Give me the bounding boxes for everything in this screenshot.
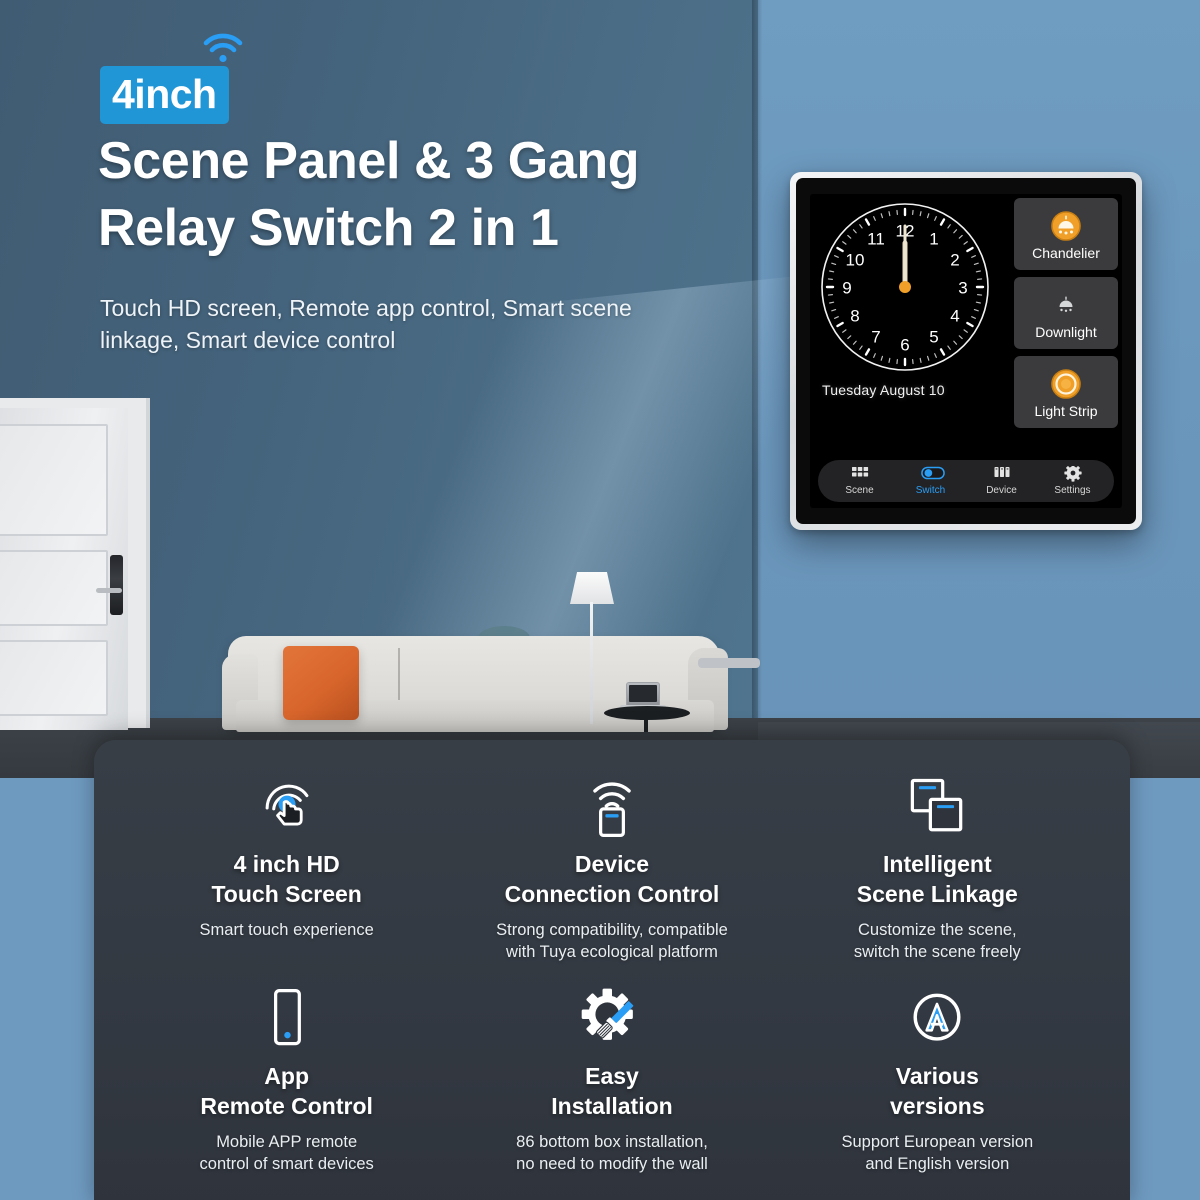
smart-door-lock bbox=[110, 555, 123, 615]
headline-line-1: Scene Panel & 3 Gang bbox=[98, 128, 758, 195]
feature-title: Intelligent Scene Linkage bbox=[857, 850, 1018, 910]
page-title: Scene Panel & 3 Gang Relay Switch 2 in 1 bbox=[98, 128, 758, 261]
feature-title-line-2: Touch Screen bbox=[211, 880, 361, 910]
svg-text:10: 10 bbox=[846, 251, 865, 270]
clock-date-label: Tuesday August 10 bbox=[822, 382, 945, 398]
panel-bezel: 12 1 2 3 4 5 6 7 8 9 10 11 bbox=[796, 178, 1136, 524]
device-tile-list: Chandelier bbox=[1014, 198, 1118, 428]
svg-text:6: 6 bbox=[900, 336, 909, 355]
feature-title: Easy Installation bbox=[551, 1062, 672, 1122]
feature-title-line-1: Easy bbox=[551, 1062, 672, 1092]
product-banner: 4inch Scene Panel & 3 Gang Relay Switch … bbox=[0, 0, 1200, 1200]
door-panel-bottom bbox=[0, 640, 108, 716]
headline-line-2: Relay Switch 2 in 1 bbox=[98, 195, 758, 262]
door bbox=[0, 408, 128, 730]
feature-title: 4 inch HD Touch Screen bbox=[211, 850, 361, 910]
laptop bbox=[626, 682, 660, 707]
feature-description: Strong compatibility, compatible with Tu… bbox=[496, 919, 728, 964]
feature-app-remote-control: App Remote Control Mobile APP remote con… bbox=[124, 978, 449, 1190]
feature-title: Various versions bbox=[890, 1062, 985, 1122]
device-tile-label: Light Strip bbox=[1034, 404, 1097, 418]
nav-label: Settings bbox=[1054, 486, 1090, 496]
feature-description: Smart touch experience bbox=[200, 919, 374, 941]
gear-screwdriver-icon bbox=[576, 978, 648, 1060]
nav-item-settings[interactable]: Settings bbox=[1044, 466, 1102, 496]
floor-lamp-pole bbox=[590, 602, 593, 724]
svg-text:9: 9 bbox=[842, 279, 851, 298]
page-subtitle: Touch HD screen, Remote app control, Sma… bbox=[100, 292, 700, 356]
wall-corner-edge bbox=[752, 0, 762, 760]
device-tile-light-strip[interactable]: Light Strip bbox=[1014, 356, 1118, 428]
door-panel-top bbox=[0, 424, 108, 536]
svg-text:8: 8 bbox=[850, 307, 859, 326]
feature-desc-line-1: Customize the scene, bbox=[854, 919, 1021, 941]
feature-title-line-2: versions bbox=[890, 1092, 985, 1122]
feature-desc-line-1: 86 bottom box installation, bbox=[516, 1131, 708, 1153]
feature-title-line-2: Remote Control bbox=[200, 1092, 373, 1122]
feature-desc-line-1: Mobile APP remote bbox=[200, 1131, 374, 1153]
feature-description: Mobile APP remote control of smart devic… bbox=[200, 1131, 374, 1176]
feature-device-connection: Device Connection Control Strong compati… bbox=[449, 766, 774, 978]
light-strip-icon bbox=[1049, 367, 1083, 401]
wifi-icon bbox=[202, 32, 244, 64]
clock-widget[interactable]: 12 1 2 3 4 5 6 7 8 9 10 11 bbox=[818, 200, 992, 374]
door-panel-middle bbox=[0, 550, 108, 626]
feature-desc-line-2: with Tuya ecological platform bbox=[496, 941, 728, 963]
feature-desc-line-2: no need to modify the wall bbox=[516, 1153, 708, 1175]
floor-lamp-shade bbox=[570, 572, 614, 604]
feature-title-line-1: Device bbox=[505, 850, 720, 880]
feature-various-versions: Various versions Support European versio… bbox=[775, 978, 1100, 1190]
svg-text:1: 1 bbox=[929, 230, 938, 249]
badge-row: 4inch bbox=[100, 30, 360, 110]
feature-title-line-2: Scene Linkage bbox=[857, 880, 1018, 910]
door-handle bbox=[96, 588, 122, 593]
svg-text:7: 7 bbox=[871, 328, 880, 347]
phone-icon bbox=[251, 978, 323, 1060]
svg-text:2: 2 bbox=[950, 251, 959, 270]
feature-desc-line-1: Smart touch experience bbox=[200, 919, 374, 941]
feature-desc-line-2: and English version bbox=[841, 1153, 1033, 1175]
nav-label: Switch bbox=[916, 486, 945, 496]
feature-title-line-1: Intelligent bbox=[857, 850, 1018, 880]
chandelier-icon bbox=[1049, 209, 1083, 243]
panel-navbar: Scene Switch bbox=[818, 460, 1114, 502]
feature-description: Support European version and English ver… bbox=[841, 1131, 1033, 1176]
device-tile-label: Downlight bbox=[1035, 325, 1096, 339]
feature-title: App Remote Control bbox=[200, 1062, 373, 1122]
svg-text:11: 11 bbox=[867, 230, 885, 249]
device-tile-downlight[interactable]: Downlight bbox=[1014, 277, 1118, 349]
feature-title-line-1: App bbox=[200, 1062, 373, 1092]
subheadline-line-2: linkage, Smart device control bbox=[100, 324, 700, 356]
feature-title-line-1: Various bbox=[890, 1062, 985, 1092]
feature-easy-installation: Easy Installation 86 bottom box installa… bbox=[449, 978, 774, 1190]
feature-card: 4 inch HD Touch Screen Smart touch exper… bbox=[94, 740, 1130, 1200]
side-table-leg bbox=[644, 716, 648, 732]
orange-pillow bbox=[283, 646, 359, 720]
svg-text:4: 4 bbox=[950, 307, 959, 326]
laptop-screen bbox=[629, 685, 657, 702]
feature-title-line-1: 4 inch HD bbox=[211, 850, 361, 880]
device-tile-chandelier[interactable]: Chandelier bbox=[1014, 198, 1118, 270]
touch-screen-icon bbox=[251, 766, 323, 848]
svg-text:3: 3 bbox=[958, 279, 967, 298]
nav-label: Device bbox=[986, 486, 1017, 496]
device-icon bbox=[992, 466, 1012, 484]
gear-icon bbox=[1063, 466, 1083, 484]
feature-description: 86 bottom box installation, no need to m… bbox=[516, 1131, 708, 1176]
feature-title-line-2: Installation bbox=[551, 1092, 672, 1122]
panel-screen[interactable]: 12 1 2 3 4 5 6 7 8 9 10 11 bbox=[810, 194, 1122, 508]
size-badge: 4inch bbox=[100, 66, 229, 124]
feature-scene-linkage: Intelligent Scene Linkage Customize the … bbox=[775, 766, 1100, 978]
device-tile-label: Chandelier bbox=[1032, 246, 1100, 260]
toggle-icon bbox=[921, 466, 941, 484]
grid-icon bbox=[850, 466, 870, 484]
downlight-icon bbox=[1049, 288, 1083, 322]
nav-item-scene[interactable]: Scene bbox=[831, 466, 889, 496]
feature-desc-line-2: control of smart devices bbox=[200, 1153, 374, 1175]
svg-text:5: 5 bbox=[929, 328, 938, 347]
feature-desc-line-1: Strong compatibility, compatible bbox=[496, 919, 728, 941]
feature-description: Customize the scene, switch the scene fr… bbox=[854, 919, 1021, 964]
nav-label: Scene bbox=[845, 486, 873, 496]
letter-a-circle-icon bbox=[901, 978, 973, 1060]
feature-desc-line-1: Support European version bbox=[841, 1131, 1033, 1153]
scene-linkage-icon bbox=[901, 766, 973, 848]
feature-desc-line-2: switch the scene freely bbox=[854, 941, 1021, 963]
nav-item-device[interactable]: Device bbox=[973, 466, 1031, 496]
wifi-device-icon bbox=[576, 766, 648, 848]
subheadline-line-1: Touch HD screen, Remote app control, Sma… bbox=[100, 292, 700, 324]
wall-panel-device[interactable]: 12 1 2 3 4 5 6 7 8 9 10 11 bbox=[790, 172, 1142, 530]
nav-item-switch[interactable]: Switch bbox=[902, 466, 960, 496]
feature-touch-screen: 4 inch HD Touch Screen Smart touch exper… bbox=[124, 766, 449, 978]
feature-title: Device Connection Control bbox=[505, 850, 720, 910]
navy-chair bbox=[697, 662, 761, 728]
feature-title-line-2: Connection Control bbox=[505, 880, 720, 910]
feature-grid: 4 inch HD Touch Screen Smart touch exper… bbox=[124, 766, 1100, 1190]
